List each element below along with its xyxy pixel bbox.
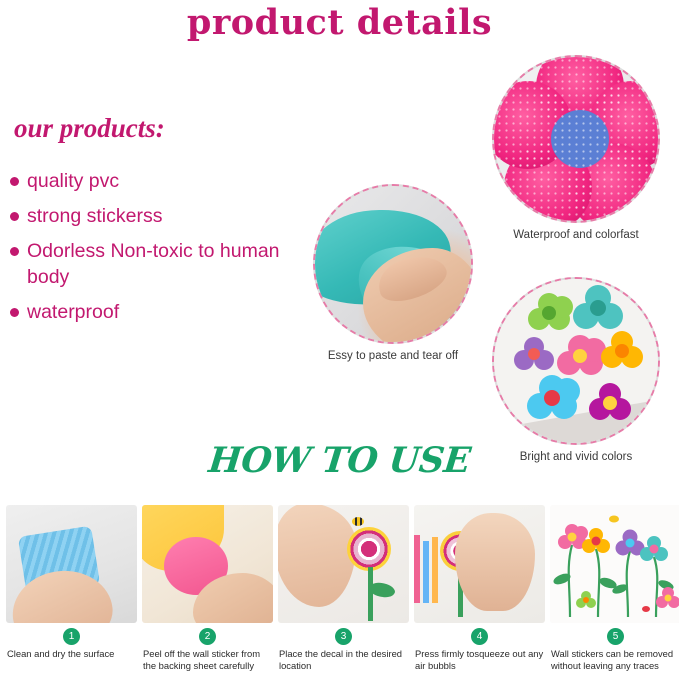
feature-label: waterproof xyxy=(27,299,119,325)
wall-decal-sheet xyxy=(550,505,679,623)
photo-bright-vivid: Bright and vivid colors xyxy=(492,277,660,463)
colored-stems xyxy=(414,535,440,603)
step-caption: Wall stickers can be removed without lea… xyxy=(550,648,679,672)
list-item: Odorless Non-toxic to human body xyxy=(10,238,300,290)
step-photo xyxy=(6,505,137,623)
step-caption: Place the decal in the desired location xyxy=(278,648,409,672)
list-item: quality pvc xyxy=(10,168,300,194)
step-5: 5 Wall stickers can be removed without l… xyxy=(550,505,679,672)
circle-photo xyxy=(313,184,473,344)
step-number: 4 xyxy=(471,628,488,645)
product-detail-page: product details our products: quality pv… xyxy=(0,0,679,685)
feature-label: Odorless Non-toxic to human body xyxy=(27,238,300,290)
step-photo xyxy=(278,505,409,623)
circle-photo xyxy=(492,55,660,223)
photo-waterproof-colorfast: Waterproof and colorfast xyxy=(492,55,660,241)
step-number: 3 xyxy=(335,628,352,645)
step-photo xyxy=(414,505,545,623)
step-3: 3 Place the decal in the desired locatio… xyxy=(278,505,409,672)
howto-title: HOW TO USE xyxy=(0,440,679,481)
list-item: waterproof xyxy=(10,299,300,325)
step-caption: Peel off the wall sticker from the backi… xyxy=(142,648,273,672)
photo-easy-to-paste: Essy to paste and tear off xyxy=(313,184,473,362)
step-caption: Press firmly tosqueeze out any air bubbl… xyxy=(414,648,545,672)
step-number: 1 xyxy=(63,628,80,645)
list-item: strong stickerss xyxy=(10,203,300,229)
step-number: 5 xyxy=(607,628,624,645)
flower-decal xyxy=(347,527,391,571)
hand xyxy=(278,505,356,607)
step-2: 2 Peel off the wall sticker from the bac… xyxy=(142,505,273,672)
page-title: product details xyxy=(0,2,679,43)
our-products-heading: our products: xyxy=(14,113,165,144)
feature-label: strong stickerss xyxy=(27,203,162,229)
step-photo xyxy=(550,505,679,623)
step-caption: Clean and dry the surface xyxy=(6,648,137,660)
step-1: 1 Clean and dry the surface xyxy=(6,505,137,672)
bullet-dot-icon xyxy=(10,247,19,256)
bee-decal xyxy=(352,517,364,526)
howto-steps: 1 Clean and dry the surface 2 Peel off t… xyxy=(6,505,673,672)
photo-caption: Waterproof and colorfast xyxy=(492,229,660,241)
feature-label: quality pvc xyxy=(27,168,119,194)
sticker-sheet-graphic xyxy=(494,279,660,445)
pink-flower-graphic xyxy=(494,57,660,223)
circle-photo xyxy=(492,277,660,445)
step-number: 2 xyxy=(199,628,216,645)
bullet-dot-icon xyxy=(10,308,19,317)
bullet-dot-icon xyxy=(10,177,19,186)
photo-caption: Essy to paste and tear off xyxy=(313,350,473,362)
hand xyxy=(455,513,535,611)
step-photo xyxy=(142,505,273,623)
step-4: 4 Press firmly tosqueeze out any air bub… xyxy=(414,505,545,672)
bullet-dot-icon xyxy=(10,212,19,221)
product-feature-list: quality pvc strong stickerss Odorless No… xyxy=(10,168,300,334)
